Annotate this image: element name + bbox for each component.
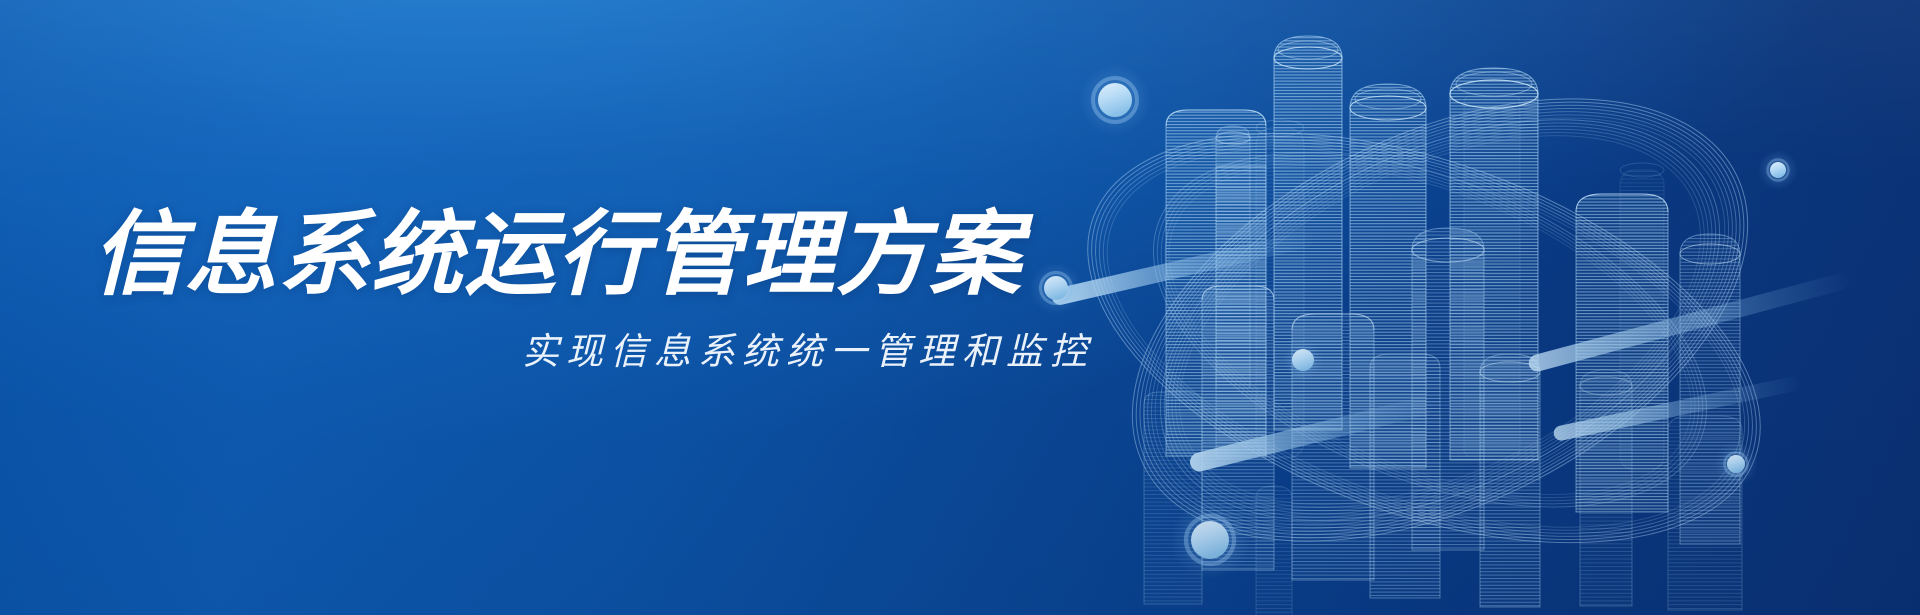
tower-tall-cylinder-c: [1450, 68, 1538, 460]
wireframe-city-illustration: [1020, 0, 1920, 615]
skyline-group: [1144, 36, 1742, 615]
tower-back-3: [1620, 163, 1664, 470]
glow-dot-center: [1283, 340, 1323, 380]
hero-text-block: 信息系统运行管理方案 实现信息系统统一管理和监控: [92, 206, 1102, 375]
orbit-rings-back: [1097, 37, 1784, 602]
tower-front-e: [1480, 354, 1540, 607]
tower-back-2: [1464, 96, 1520, 456]
tower-front-f: [1580, 370, 1632, 606]
tower-front-a: [1202, 286, 1274, 570]
tower-back-1: [1256, 120, 1304, 458]
tower-left-slab: [1166, 110, 1266, 458]
tower-front-b: [1292, 314, 1374, 580]
streak-right-lower: [1552, 375, 1800, 442]
streak-lower-left: [1188, 395, 1435, 474]
tower-front-c: [1370, 354, 1440, 598]
tower-far-right-cylinder: [1680, 234, 1740, 544]
glow-dot-right: [1714, 442, 1758, 486]
tower-slim-cylinder-a: [1216, 126, 1250, 388]
tower-tall-cylinder-a: [1274, 36, 1342, 430]
tower-tall-cylinder-b: [1350, 84, 1426, 468]
page-subtitle: 实现信息系统统一管理和监控: [92, 321, 1102, 375]
glow-dot-top-left: [1079, 64, 1151, 136]
glow-dot-top-right: [1758, 150, 1798, 190]
tower-right-prism: [1576, 194, 1668, 512]
light-streaks: [1050, 230, 1850, 474]
tower-front-h: [1256, 486, 1292, 615]
orbit-rings-front: [1033, 8, 1818, 615]
tower-front-g: [1668, 416, 1742, 610]
streak-right-upper: [1527, 272, 1850, 374]
tower-front-d: [1144, 392, 1202, 604]
page-title: 信息系统运行管理方案: [92, 206, 1102, 305]
tower-front-cylinder-wide: [1412, 228, 1484, 550]
glow-dots: [1030, 64, 1798, 580]
glow-dot-bottom-left: [1170, 500, 1250, 580]
hero-banner: 信息系统运行管理方案 实现信息系统统一管理和监控: [0, 0, 1920, 615]
